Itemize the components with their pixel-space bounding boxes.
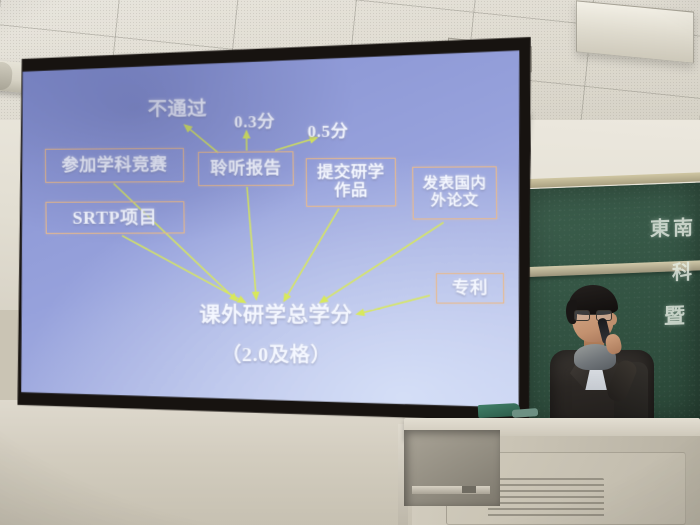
slide-content: 不通过 0.3分 0.5分 参加学科竞赛 聆听报告 提交研学 作品 发表国内 外… <box>16 47 526 411</box>
presenter <box>540 278 670 428</box>
presenter-glasses <box>574 310 614 321</box>
projection-screen: 不通过 0.3分 0.5分 参加学科竞赛 聆听报告 提交研学 作品 发表国内 外… <box>16 47 526 411</box>
glasses-lens-left <box>574 310 590 321</box>
slide-box-lecture: 聆听报告 <box>198 151 294 186</box>
slide-label-0-3-points: 0.3分 <box>218 112 291 132</box>
slide-box-srtp: SRTP项目 <box>45 201 184 234</box>
podium-open-compartment <box>404 430 500 506</box>
slide-label-0-5-points: 0.5分 <box>291 122 365 142</box>
slide-box-patent: 专利 <box>436 273 504 304</box>
slide-total-subtitle: （2.0及格） <box>180 344 374 367</box>
chalk-text-line-1: 東南 <box>650 211 696 242</box>
slide-box-research-work: 提交研学 作品 <box>306 158 396 207</box>
slide-label-fail: 不通过 <box>129 98 226 120</box>
classroom-photo: 東南 科 暨 <box>0 0 700 525</box>
podium-vent-slots <box>488 478 604 520</box>
chalk-text-line-2: 科 <box>672 256 692 286</box>
podium-compartment-latch <box>462 486 476 493</box>
slide-total-title: 课外研学总学分 <box>169 304 383 328</box>
slide-box-competition: 参加学科竞赛 <box>45 148 184 183</box>
podium-compartment-shelf <box>412 486 490 494</box>
slide-box-publication: 发表国内 外论文 <box>412 166 497 219</box>
